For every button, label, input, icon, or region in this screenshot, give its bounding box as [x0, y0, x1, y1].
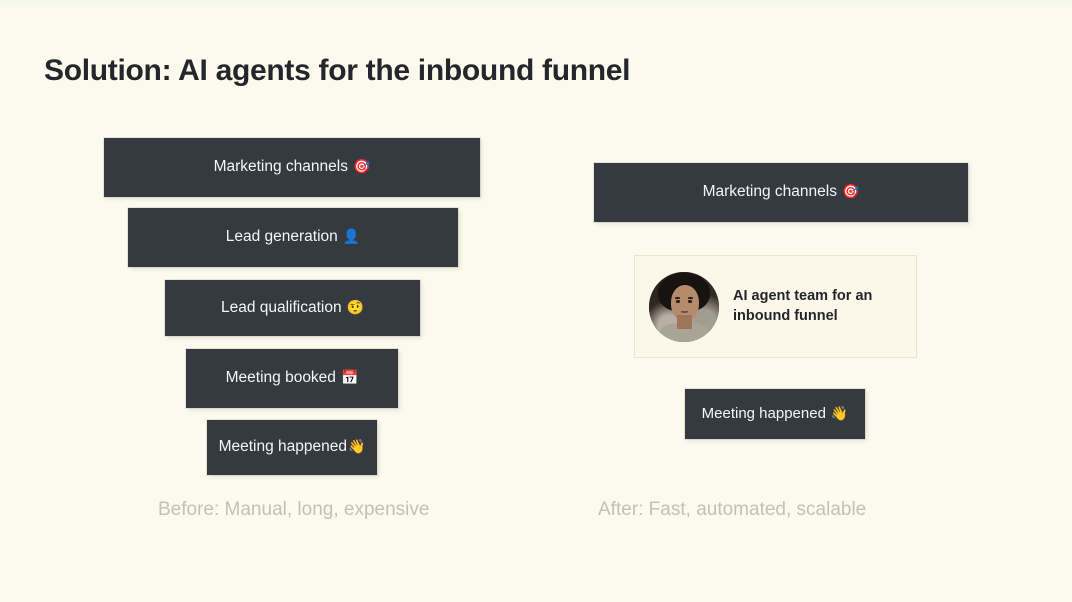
direct-hit-icon: 🎯 [842, 184, 859, 201]
agent-card-title: AI agent team for an inbound funnel [733, 287, 902, 326]
before-caption: Before: Manual, long, expensive [158, 499, 429, 521]
before-stage-meeting-booked[interactable]: Meeting booked 📅 [186, 349, 398, 408]
avatar-eyebrow-left [675, 297, 681, 299]
direct-hit-icon: 🎯 [353, 159, 370, 176]
calendar-icon: 📅 [341, 370, 358, 387]
before-stage-lead-generation[interactable]: Lead generation 👤 [128, 208, 458, 267]
bust-in-silhouette-icon: 👤 [343, 229, 360, 246]
stage-label: Marketing channels [214, 158, 348, 177]
ai-agent-team-card[interactable]: AI agent team for an inbound funnel [634, 255, 917, 358]
after-stage-meeting-happened[interactable]: Meeting happened 👋 [685, 389, 865, 439]
top-edge-strip [0, 0, 1072, 5]
waving-hand-icon: 👋 [348, 439, 365, 456]
page-title: Solution: AI agents for the inbound funn… [44, 54, 630, 88]
avatar [649, 272, 719, 342]
stage-label: Meeting happened [702, 405, 826, 423]
after-caption: After: Fast, automated, scalable [598, 499, 866, 521]
avatar-neck [677, 315, 692, 329]
avatar-eyebrow-right [688, 297, 694, 299]
slide-canvas: Solution: AI agents for the inbound funn… [0, 0, 1072, 602]
face-with-raised-eyebrow-icon: 🤨 [347, 300, 364, 317]
avatar-eye-left [676, 300, 680, 302]
after-stage-marketing-channels[interactable]: Marketing channels 🎯 [594, 163, 968, 222]
stage-label: Meeting happened [219, 438, 347, 457]
stage-label: Meeting booked [226, 369, 336, 388]
waving-hand-icon: 👋 [831, 406, 848, 423]
stage-label: Lead generation [226, 228, 338, 247]
stage-label: Marketing channels [703, 183, 837, 202]
avatar-eye-right [688, 300, 692, 302]
before-stage-marketing-channels[interactable]: Marketing channels 🎯 [104, 138, 480, 197]
stage-label: Lead qualification [221, 299, 342, 318]
before-stage-meeting-happened[interactable]: Meeting happened 👋 [207, 420, 377, 475]
avatar-mouth [681, 311, 689, 313]
before-stage-lead-qualification[interactable]: Lead qualification 🤨 [165, 280, 420, 336]
